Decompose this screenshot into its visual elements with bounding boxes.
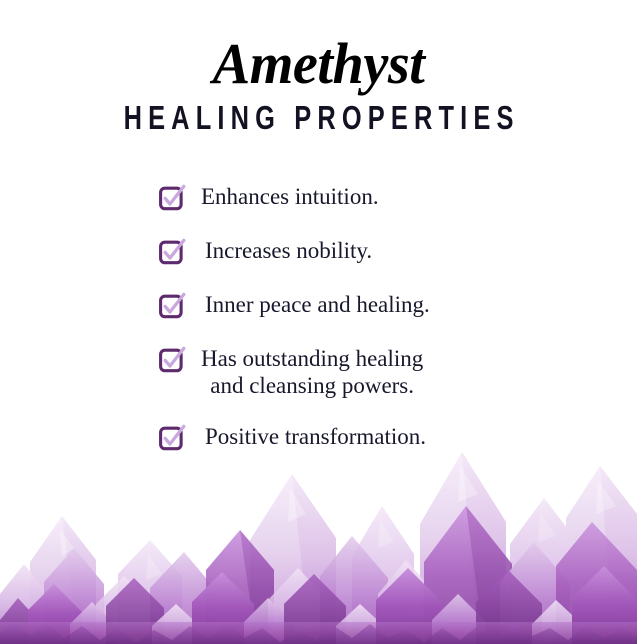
checkbox-checked-icon[interactable]: [159, 187, 183, 211]
checkbox-checked-icon[interactable]: [159, 349, 183, 373]
list-item-healing-cleansing[interactable]: Has outstanding healing and cleansing po…: [0, 345, 637, 399]
list-item-increases-nobility[interactable]: Increases nobility.: [0, 237, 637, 265]
list-item-inner-peace-healing[interactable]: Inner peace and healing.: [0, 291, 637, 319]
list-item-label: Has outstanding healing and cleansing po…: [201, 345, 423, 399]
list-item-label: Inner peace and healing.: [205, 291, 430, 318]
list-item-label: Increases nobility.: [205, 237, 372, 264]
poster-canvas: Amethyst HEALING PROPERTIES Enhances int…: [0, 0, 637, 644]
list-item-enhances-intuition[interactable]: Enhances intuition.: [0, 183, 637, 211]
list-item-label: Enhances intuition.: [201, 183, 379, 210]
page-title: Amethyst: [10, 34, 628, 94]
healing-properties-list: Enhances intuition. Increases nobility. …: [0, 183, 637, 451]
page-subtitle: HEALING PROPERTIES: [57, 100, 579, 137]
checkbox-checked-icon[interactable]: [159, 295, 183, 319]
header: Amethyst HEALING PROPERTIES: [0, 0, 637, 135]
checkbox-checked-icon[interactable]: [159, 241, 183, 265]
amethyst-crystal-cluster-image: [0, 444, 637, 644]
